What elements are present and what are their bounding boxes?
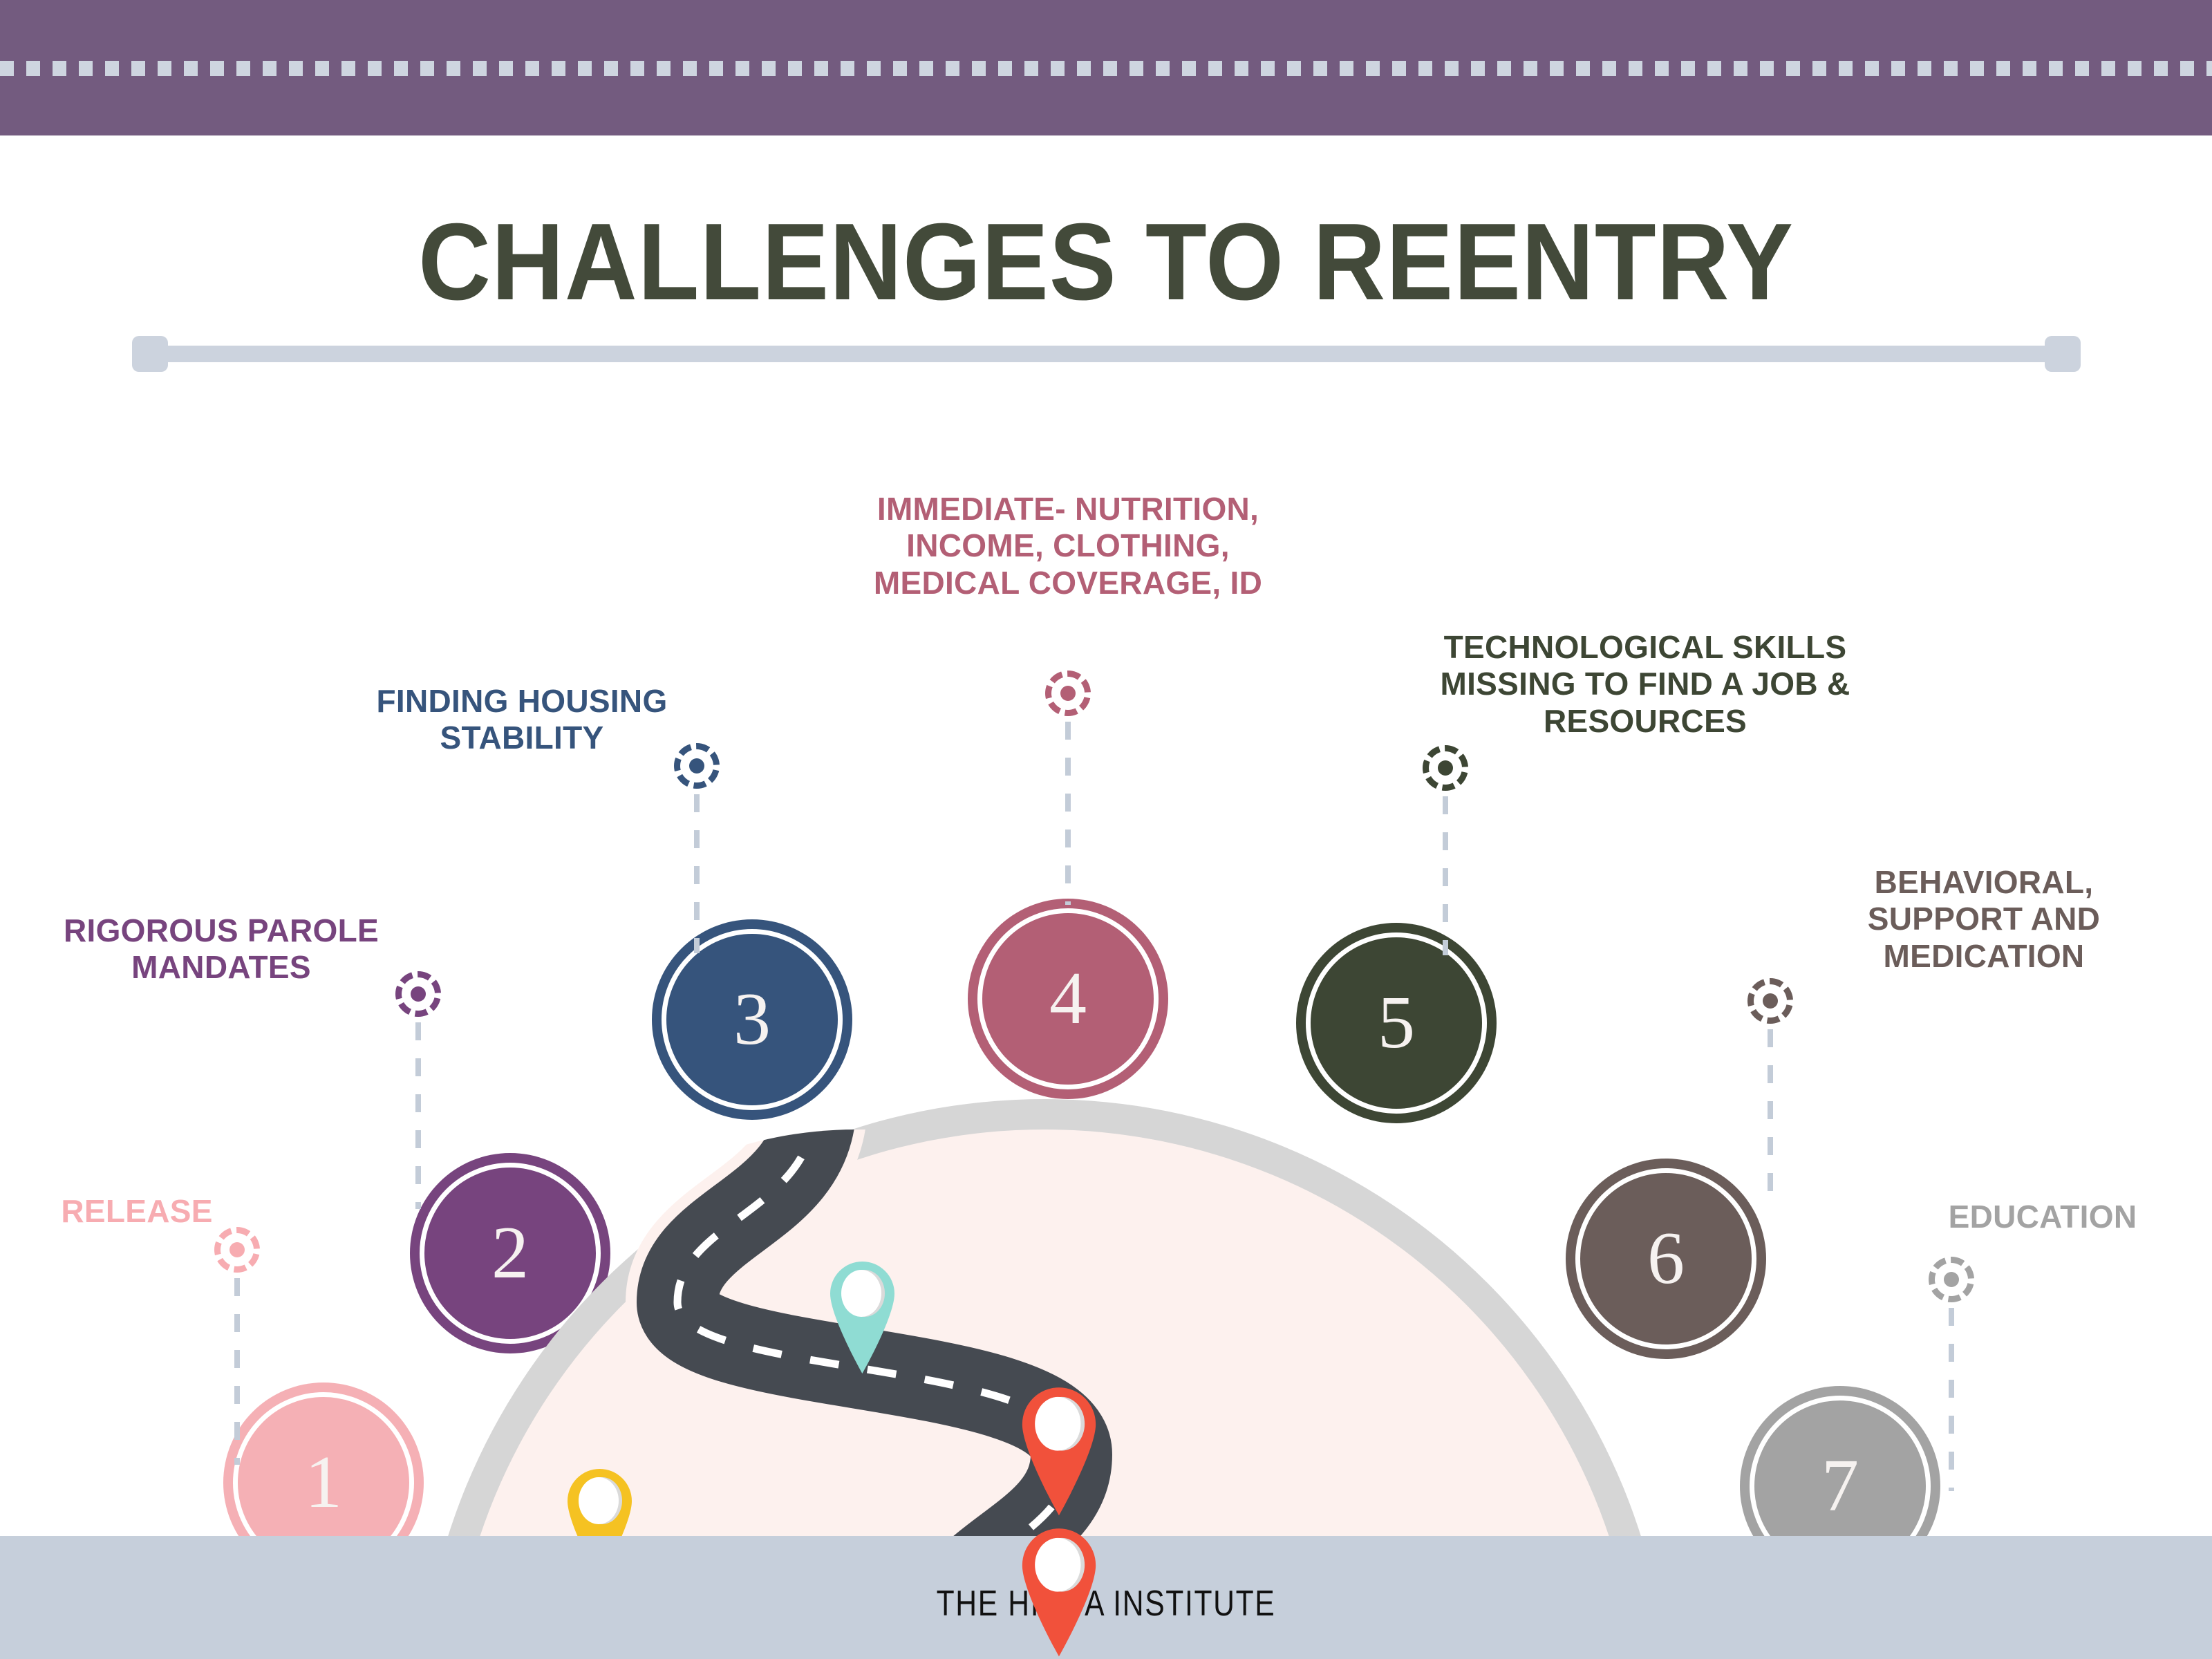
marker-release-icon[interactable]: [214, 1227, 260, 1273]
marker-technological-skills-icon[interactable]: [1423, 745, 1468, 791]
marker-dot: [229, 1242, 245, 1257]
label-immediate-needs: IMMEDIATE- NUTRITION, INCOME, CLOTHING, …: [767, 491, 1369, 601]
connector-education: [1949, 1308, 1954, 1491]
marker-rigorous-parole-mandates-icon[interactable]: [395, 971, 441, 1017]
label-line: MEDICATION: [1770, 938, 2198, 975]
label-line: EDUCATION: [1880, 1199, 2205, 1235]
marker-behavioral-support-medication-icon[interactable]: [1747, 978, 1793, 1024]
pin-teal-icon: [826, 1257, 899, 1375]
label-behavioral-support-medication: BEHAVIORAL, SUPPORT AND MEDICATION: [1770, 864, 2198, 975]
pin-yellow-icon: [563, 1465, 636, 1536]
title-underline-rule: [135, 346, 2081, 362]
title-rule-cap-left: [132, 336, 168, 372]
marker-dot: [1438, 760, 1453, 776]
header-bar: [0, 0, 2212, 135]
pin-red-icon-upper: [1018, 1382, 1100, 1517]
label-line: RELEASE: [40, 1193, 234, 1230]
step-number: 6: [1647, 1221, 1685, 1296]
connector-rigorous-parole-mandates: [415, 1022, 421, 1209]
label-release: RELEASE: [40, 1193, 234, 1230]
connector-behavioral-support-medication: [1768, 1029, 1773, 1195]
label-line: TECHNOLOGICAL SKILLS: [1358, 629, 1932, 666]
label-rigorous-parole-mandates: RIGOROUS PAROLE MANDATES: [14, 912, 429, 986]
label-education: EDUCATION: [1880, 1199, 2205, 1235]
label-line: BEHAVIORAL,: [1770, 864, 2198, 901]
infographic-canvas: CHALLENGES TO REENTRY 1 2 3 4 5 6 7: [0, 0, 2212, 1659]
step-number: 7: [1821, 1449, 1859, 1524]
step-circle-5[interactable]: 5: [1296, 923, 1497, 1123]
marker-dot: [1944, 1272, 1959, 1287]
connector-release: [234, 1278, 240, 1465]
marker-dot: [1763, 993, 1778, 1009]
marker-dot: [689, 758, 704, 774]
step-number: 3: [733, 982, 771, 1057]
label-line: MANDATES: [14, 949, 429, 986]
title-rule-cap-right: [2045, 336, 2081, 372]
footer-organization-name: THE HINDA INSTITUTE: [199, 1583, 2013, 1624]
label-line: RIGOROUS PAROLE: [14, 912, 429, 949]
label-line: MISSING TO FIND A JOB &: [1358, 666, 1932, 702]
marker-immediate-needs-icon[interactable]: [1045, 671, 1091, 716]
pin-red-icon: [1018, 1524, 1100, 1658]
step-circle-3[interactable]: 3: [652, 919, 852, 1120]
step-number: 1: [305, 1445, 342, 1520]
step-number: 4: [1049, 962, 1087, 1036]
marker-education-icon[interactable]: [1929, 1257, 1974, 1302]
label-line: RESOURCES: [1358, 703, 1932, 740]
connector-technological-skills: [1443, 796, 1448, 955]
marker-dot: [1060, 686, 1076, 701]
marker-dot: [411, 986, 426, 1002]
label-line: IMMEDIATE- NUTRITION,: [767, 491, 1369, 527]
label-line: MEDICAL COVERAGE, ID: [767, 565, 1369, 601]
header-dashed-line: [0, 61, 2212, 76]
step-number: 5: [1378, 986, 1415, 1060]
label-line: INCOME, CLOTHING,: [767, 527, 1369, 564]
label-line: SUPPORT AND: [1770, 901, 2198, 937]
step-number: 2: [491, 1216, 529, 1291]
label-line: FINDING HOUSING: [304, 683, 740, 720]
connector-finding-housing-stability: [694, 794, 700, 953]
connector-immediate-needs: [1065, 722, 1071, 905]
step-circle-4[interactable]: 4: [968, 899, 1168, 1099]
label-technological-skills: TECHNOLOGICAL SKILLS MISSING TO FIND A J…: [1358, 629, 1932, 740]
page-title: CHALLENGES TO REENTRY: [88, 207, 2124, 317]
marker-finding-housing-stability-icon[interactable]: [674, 743, 720, 789]
